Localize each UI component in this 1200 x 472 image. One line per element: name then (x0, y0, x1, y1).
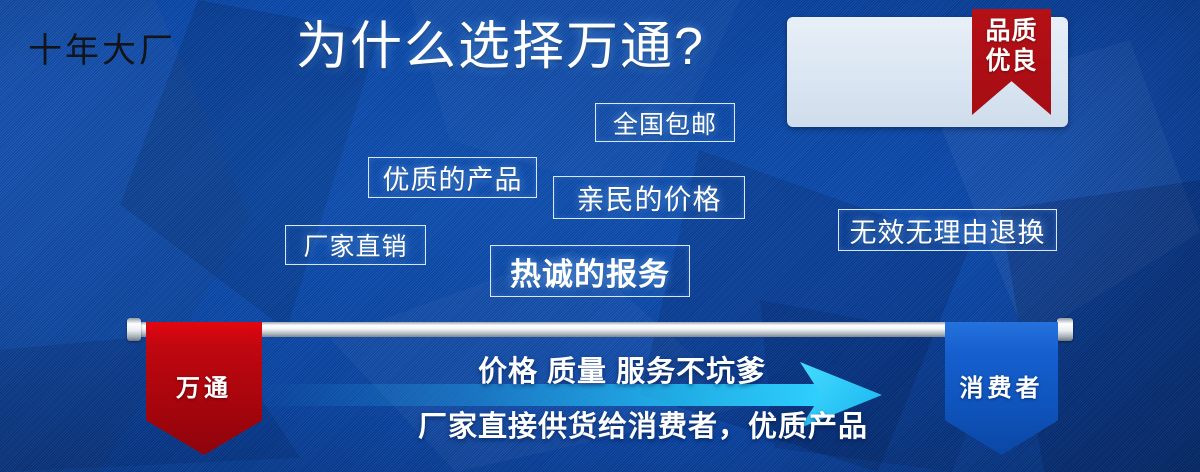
promo-banner: 为什么选择万通? 十年大厂 品质 优良 全国包邮 优质的产品 亲民的价格 厂家直… (0, 0, 1200, 472)
feature-chip-nationwide-free-shipping: 全国包邮 (595, 103, 735, 142)
badge-panel-label: 十年大厂 (28, 28, 176, 74)
feature-chip-quality-products: 优质的产品 (368, 157, 537, 198)
slogan-line-2: 厂家直接供货给消费者，优质产品 (418, 410, 868, 444)
quality-ribbon-label: 品质 优良 (972, 16, 1051, 76)
feature-chip-factory-direct-sales: 厂家直销 (285, 225, 426, 265)
rod-end-cap-left (127, 318, 141, 341)
rod-end-cap-right (1057, 318, 1073, 341)
ribbon-line-1: 品质 (972, 16, 1051, 46)
ribbon-line-2: 优良 (972, 46, 1051, 76)
flag-manufacturer-label: 万通 (176, 368, 232, 403)
flag-consumer-label: 消费者 (960, 368, 1044, 403)
page-title: 为什么选择万通? (296, 16, 705, 78)
feature-chip-friendly-price: 亲民的价格 (553, 176, 745, 219)
hanging-rod (136, 322, 1062, 337)
slogan-line-1: 价格 质量 服务不坑爹 (478, 355, 766, 389)
feature-chip-sincere-service: 热诚的报务 (490, 245, 690, 297)
feature-chip-no-reason-return: 无效无理由退换 (838, 209, 1057, 251)
